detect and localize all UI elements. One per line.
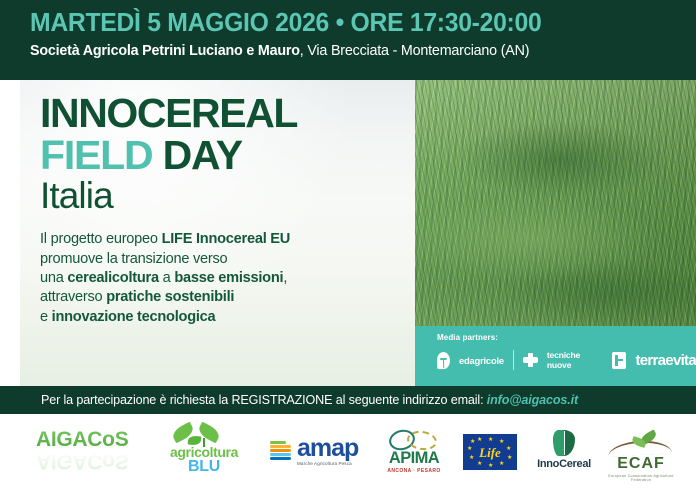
desc-text: attraverso — [40, 289, 106, 305]
title-line-field-day: FIELD DAY — [40, 135, 405, 176]
event-venue: Società Agricola Petrini Luciano e Mauro… — [30, 43, 661, 59]
desc-bold-innovazione: innovazione tecnologica — [52, 309, 216, 325]
media-partner-edagricole[interactable]: edagricole — [459, 355, 504, 366]
ecaf-subtitle: European Conservation Agriculture Federa… — [604, 474, 678, 482]
event-poster: MARTEDÌ 5 MAGGIO 2026 • ORE 17:30-20:00 … — [0, 0, 696, 496]
logo-apima[interactable]: APIMA ANCONA · PESARO — [383, 428, 445, 474]
desc-text: una — [40, 270, 67, 286]
amap-tagline: Marche Agricoltura Pesca — [297, 462, 358, 467]
media-partners-bar: Media partners: edagricole tecniche nuov… — [415, 326, 696, 386]
description-line-3: una cerealicoltura a basse emissioni, — [40, 269, 405, 288]
innocereal-wordmark: InnoCereal — [529, 458, 599, 470]
logo-life-eu[interactable]: ★ ★ ★ ★ ★ ★ ★ ★ ★ ★ ★ Life — [463, 434, 517, 470]
sprout-icon — [158, 424, 250, 446]
desc-text: a — [159, 270, 174, 286]
poster-footer: AIGACoS AIGACoS agricoltura BLU amap Mar… — [0, 414, 696, 496]
agricoltura-word: agricoltura — [158, 445, 250, 459]
desc-bold-cerealicoltura: cerealicoltura — [67, 270, 158, 286]
registration-text: Per la partecipazione è richiesta la REG… — [0, 393, 578, 407]
title-line-italia: Italia — [40, 177, 405, 216]
registration-instruction: Per la partecipazione è richiesta la REG… — [41, 393, 487, 407]
innocereal-leaf-icon — [529, 430, 599, 457]
venue-address: , Via Brecciata - Montemarciano (AN) — [300, 43, 530, 59]
apima-subtitle: ANCONA · PESARO — [383, 468, 445, 474]
edagricole-leaf-icon — [437, 351, 451, 368]
event-date-time: MARTEDÌ 5 MAGGIO 2026 • ORE 17:30-20:00 — [30, 10, 655, 37]
title-line-innocereal: INNOCEREAL — [40, 94, 405, 133]
desc-bold-life: LIFE Innocereal EU — [162, 231, 291, 247]
project-description: Il progetto europeo LIFE Innocereal EU p… — [40, 230, 405, 327]
apima-wordmark: APIMA — [383, 450, 445, 467]
poster-header: MARTEDÌ 5 MAGGIO 2026 • ORE 17:30-20:00 … — [0, 0, 696, 80]
logo-agricoltura-blu[interactable]: agricoltura BLU — [158, 424, 250, 475]
apima-ring-icon — [383, 428, 445, 450]
logo-aigacos[interactable]: AIGACoS AIGACoS — [36, 428, 128, 473]
ecaf-wordmark: ECAF — [604, 456, 678, 472]
desc-bold-emissioni: basse emissioni — [174, 270, 283, 286]
desc-text: , — [283, 270, 287, 286]
aigacos-reflection: AIGACoS — [36, 449, 128, 473]
title-word-day: DAY — [163, 132, 242, 178]
description-line-1: Il progetto europeo LIFE Innocereal EU — [40, 230, 405, 249]
amap-wordmark: amap — [297, 436, 358, 461]
logo-amap[interactable]: amap Marche Agricoltura Pesca — [268, 436, 358, 467]
logo-innocereal[interactable]: InnoCereal — [529, 430, 599, 470]
divider — [513, 350, 514, 370]
media-partners-label: Media partners: — [437, 333, 696, 342]
terraevita-icon — [612, 352, 626, 369]
description-line-5: e innovazione tecnologica — [40, 308, 405, 327]
venue-name: Società Agricola Petrini Luciano e Mauro — [30, 43, 300, 59]
description-line-2: promuove la transizione verso — [40, 250, 405, 269]
media-partner-terraevita[interactable]: terraevita — [635, 352, 696, 369]
logo-ecaf[interactable]: ECAF European Conservation Agriculture F… — [604, 432, 678, 482]
tecniche-nuove-icon — [523, 353, 538, 367]
registration-bar: Per la partecipazione è richiesta la REG… — [0, 386, 696, 414]
title-word-field: FIELD — [40, 132, 152, 178]
desc-text: Il progetto europeo — [40, 231, 162, 247]
life-wordmark: Life — [463, 445, 517, 461]
description-line-4: attraverso pratiche sostenibili — [40, 288, 405, 307]
media-partner-tecniche-nuove[interactable]: tecniche nuove — [547, 350, 604, 370]
desc-text: e — [40, 309, 52, 325]
poster-body: INNOCEREAL FIELD DAY Italia Il progetto … — [0, 80, 696, 386]
blu-word: BLU — [158, 459, 250, 475]
cereal-field-photo: Media partners: edagricole tecniche nuov… — [415, 80, 696, 386]
amap-waves-icon — [268, 439, 294, 463]
ecaf-sprout-icon — [604, 432, 678, 456]
desc-bold-pratiche: pratiche sostenibili — [106, 289, 234, 305]
registration-email[interactable]: info@aigacos.it — [487, 393, 578, 407]
title-panel: INNOCEREAL FIELD DAY Italia Il progetto … — [20, 80, 415, 386]
